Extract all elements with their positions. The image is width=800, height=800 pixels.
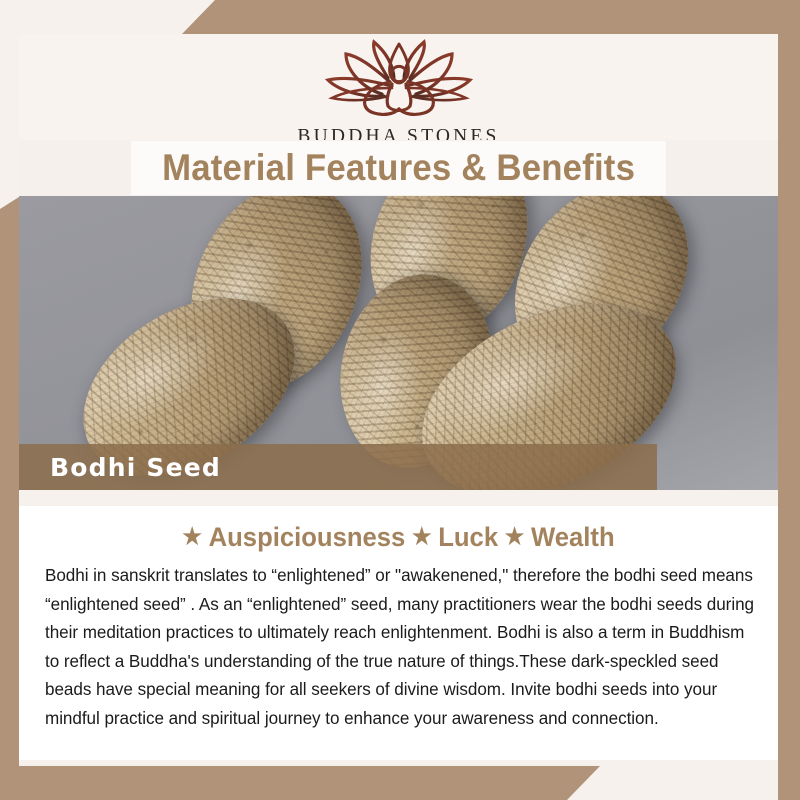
description-section: ★Auspiciousness★Luck★Wealth Bodhi in san… (19, 506, 778, 760)
benefit-item-1: Luck (438, 522, 498, 552)
bottom-fill (19, 760, 778, 766)
page-title: Material Features & Benefits (162, 147, 635, 189)
benefits-heading: ★Auspiciousness★Luck★Wealth (38, 522, 759, 553)
description-paragraph: Bodhi in sanskrit translates to “enlight… (45, 562, 759, 734)
benefit-item-0: Auspiciousness (209, 522, 406, 552)
section-divider (19, 490, 778, 506)
frame-right-accent (778, 0, 800, 800)
photo-caption-label: Bodhi Seed (50, 453, 221, 482)
benefit-item-2: Wealth (531, 522, 615, 552)
star-icon: ★ (412, 523, 432, 549)
title-banner: Material Features & Benefits (131, 141, 666, 195)
frame-top-accent (0, 0, 800, 34)
frame-left-accent (0, 197, 19, 800)
star-icon: ★ (505, 523, 525, 549)
frame-bottom-accent (0, 766, 800, 800)
photo-caption-bar: Bodhi Seed (19, 444, 657, 490)
brand-logo: BUDDHA STONES (19, 34, 778, 140)
infographic-page: BUDDHA STONES Material Features & Benefi… (0, 0, 800, 800)
brand-header: BUDDHA STONES (19, 34, 778, 140)
star-icon: ★ (182, 523, 202, 549)
lotus-meditation-icon (306, 36, 492, 125)
